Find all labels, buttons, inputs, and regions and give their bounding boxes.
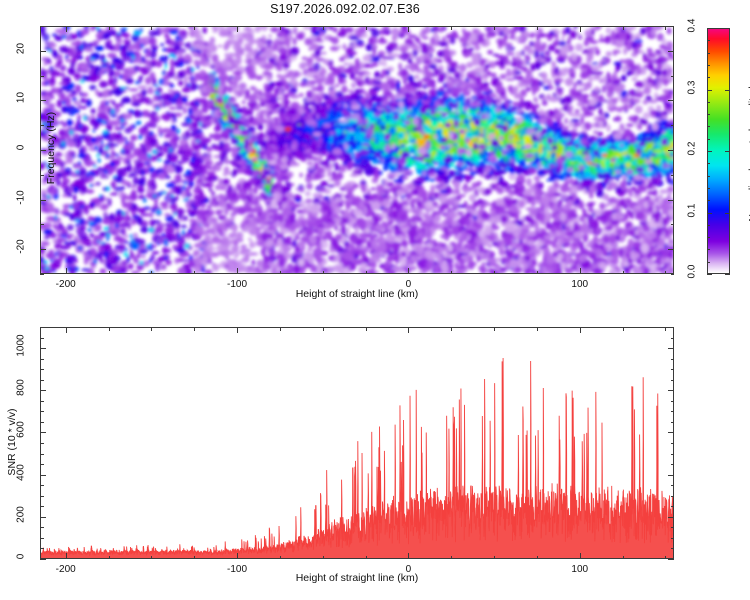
x-tick-top-125 bbox=[623, 26, 624, 30]
y-tick-right--25 bbox=[671, 274, 675, 275]
colorbar-minor-tick bbox=[707, 53, 710, 54]
colorbar-minor-tick bbox=[707, 262, 710, 263]
y-tick-1050 bbox=[40, 338, 44, 339]
x-tick--25 bbox=[366, 271, 367, 275]
y-tick-right-1000 bbox=[668, 348, 674, 349]
y-tick-right-800 bbox=[668, 390, 674, 391]
x-tick-top-0 bbox=[408, 26, 409, 32]
x-tick-top-50 bbox=[494, 26, 495, 30]
y-tick-right-550 bbox=[671, 443, 675, 444]
x-tick-top--200 bbox=[66, 26, 67, 32]
y-tick-250 bbox=[40, 506, 44, 507]
y-tick-right--15 bbox=[671, 224, 675, 225]
y-tick-600 bbox=[40, 432, 46, 433]
y-tick-750 bbox=[40, 401, 44, 402]
y-tick-550 bbox=[40, 443, 44, 444]
y-tick-right-1100 bbox=[671, 327, 675, 328]
y-tick--20 bbox=[40, 249, 46, 250]
y-tick-right-150 bbox=[671, 527, 675, 528]
y-tick-1100 bbox=[40, 327, 44, 328]
y-tick-right-950 bbox=[671, 359, 675, 360]
colorbar-minor-tick bbox=[707, 102, 710, 103]
x-tick-top-25 bbox=[451, 26, 452, 30]
y-tick-right-0 bbox=[668, 559, 674, 560]
colorbar-minor-tick bbox=[707, 163, 710, 164]
x-tick-top-100 bbox=[580, 26, 581, 32]
colorbar-minor-tick bbox=[707, 77, 710, 78]
x-tick-top-50 bbox=[494, 327, 495, 331]
spectrogram-y-axis-label: Frequency (Hz) bbox=[45, 48, 57, 248]
colorbar-minor-tick bbox=[707, 40, 710, 41]
y-tick-right-850 bbox=[671, 380, 675, 381]
colorbar-tick-label-3: 0.3 bbox=[687, 75, 698, 101]
x-tick-top--100 bbox=[237, 327, 238, 333]
spectrogram-plot-area bbox=[40, 26, 674, 274]
y-tick-right-25 bbox=[671, 26, 675, 27]
x-tick--50 bbox=[323, 271, 324, 275]
y-tick-right-300 bbox=[671, 496, 675, 497]
colorbar-tick-label-0: 0.0 bbox=[687, 259, 698, 285]
snr-plot-area bbox=[40, 327, 674, 559]
y-tick-850 bbox=[40, 380, 44, 381]
x-tick-top--175 bbox=[109, 327, 110, 331]
y-tick-right-1050 bbox=[671, 338, 675, 339]
y-tick-right-700 bbox=[671, 411, 675, 412]
colorbar-minor-tick bbox=[707, 188, 710, 189]
x-tick--125 bbox=[194, 556, 195, 560]
y-tick-500 bbox=[40, 454, 44, 455]
colorbar-minor-tick bbox=[707, 237, 710, 238]
y-tick-800 bbox=[40, 390, 46, 391]
x-tick-top--100 bbox=[237, 26, 238, 32]
x-tick-top--150 bbox=[151, 26, 152, 30]
x-tick--150 bbox=[151, 271, 152, 275]
y-tick-right-250 bbox=[671, 506, 675, 507]
y-tick-10 bbox=[40, 100, 46, 101]
x-tick-50 bbox=[494, 271, 495, 275]
x-tick-50 bbox=[494, 556, 495, 560]
x-tick-top--75 bbox=[280, 327, 281, 331]
y-tick-right-500 bbox=[671, 454, 675, 455]
colorbar-tick-2 bbox=[707, 151, 712, 152]
y-tick-label-200: 200 bbox=[16, 499, 27, 529]
x-tick--75 bbox=[280, 271, 281, 275]
x-tick-25 bbox=[451, 271, 452, 275]
y-tick-right-900 bbox=[671, 369, 675, 370]
x-tick--200 bbox=[66, 553, 67, 559]
colorbar-minor-tick bbox=[707, 200, 710, 201]
colorbar-minor-tick bbox=[707, 249, 710, 250]
x-tick-top-150 bbox=[665, 327, 666, 331]
colorbar-tick-right-3 bbox=[725, 90, 730, 91]
y-tick-label-600: 600 bbox=[16, 415, 27, 445]
y-tick-700 bbox=[40, 411, 44, 412]
y-tick-100 bbox=[40, 538, 44, 539]
y-tick-right-5 bbox=[671, 125, 675, 126]
y-tick-right-200 bbox=[668, 517, 674, 518]
x-tick--50 bbox=[323, 556, 324, 560]
colorbar-tick-label-1: 0.1 bbox=[687, 198, 698, 224]
y-tick-5 bbox=[40, 125, 44, 126]
figure-title: S197.2026.092.02.07.E36 bbox=[0, 2, 690, 16]
y-tick-right-750 bbox=[671, 401, 675, 402]
colorbar-tick-right-0 bbox=[725, 274, 730, 275]
x-tick-top-125 bbox=[623, 327, 624, 331]
x-tick-25 bbox=[451, 556, 452, 560]
y-tick-0 bbox=[40, 559, 46, 560]
x-tick--175 bbox=[109, 271, 110, 275]
y-tick-650 bbox=[40, 422, 44, 423]
y-tick-400 bbox=[40, 475, 46, 476]
snr-canvas bbox=[41, 328, 673, 558]
x-tick-top--50 bbox=[323, 26, 324, 30]
colorbar-tick-right-4 bbox=[725, 28, 730, 29]
x-tick-top-0 bbox=[408, 327, 409, 333]
colorbar-minor-tick bbox=[707, 114, 710, 115]
x-tick-top--200 bbox=[66, 327, 67, 333]
colorbar-tick-label-4: 0.4 bbox=[687, 13, 698, 39]
y-tick-right-0 bbox=[668, 150, 674, 151]
y-tick-right-350 bbox=[671, 485, 675, 486]
x-tick-top--50 bbox=[323, 327, 324, 331]
x-tick-top--150 bbox=[151, 327, 152, 331]
colorbar-tick-label-2: 0.2 bbox=[687, 136, 698, 162]
y-tick-label-400: 400 bbox=[16, 457, 27, 487]
x-tick--25 bbox=[366, 556, 367, 560]
x-tick-100 bbox=[580, 268, 581, 274]
x-tick-top-75 bbox=[537, 26, 538, 30]
y-tick-label-800: 800 bbox=[16, 373, 27, 403]
x-tick-top--25 bbox=[366, 327, 367, 331]
colorbar-tick-3 bbox=[707, 90, 712, 91]
x-tick-125 bbox=[623, 271, 624, 275]
y-tick-900 bbox=[40, 369, 44, 370]
y-tick-950 bbox=[40, 359, 44, 360]
x-tick-150 bbox=[665, 271, 666, 275]
spectrogram-canvas bbox=[41, 27, 673, 273]
y-tick-20 bbox=[40, 51, 46, 52]
x-tick-100 bbox=[580, 553, 581, 559]
y-tick-right-450 bbox=[671, 464, 675, 465]
x-tick-label--200: -200 bbox=[36, 564, 96, 575]
x-tick-125 bbox=[623, 556, 624, 560]
colorbar-tick-right-2 bbox=[725, 151, 730, 152]
y-tick-25 bbox=[40, 26, 44, 27]
x-tick--150 bbox=[151, 556, 152, 560]
y-tick-label-1000: 1000 bbox=[16, 331, 27, 361]
x-tick-label--100: -100 bbox=[207, 279, 267, 290]
y-tick-right-20 bbox=[668, 51, 674, 52]
y-tick-right--5 bbox=[671, 175, 675, 176]
x-tick-top--25 bbox=[366, 26, 367, 30]
colorbar-tick-right-1 bbox=[725, 213, 730, 214]
y-tick-50 bbox=[40, 548, 44, 549]
x-tick-top-100 bbox=[580, 327, 581, 333]
y-tick-450 bbox=[40, 464, 44, 465]
x-tick-label--200: -200 bbox=[36, 279, 96, 290]
x-tick-label-0: 0 bbox=[378, 279, 438, 290]
colorbar-tick-0 bbox=[707, 274, 712, 275]
y-tick-right-400 bbox=[668, 475, 674, 476]
y-tick-right-50 bbox=[671, 548, 675, 549]
x-tick--200 bbox=[66, 268, 67, 274]
colorbar-minor-tick bbox=[707, 225, 710, 226]
y-tick-label-10: 10 bbox=[16, 83, 27, 113]
x-tick-top-25 bbox=[451, 327, 452, 331]
colorbar-minor-tick bbox=[707, 139, 710, 140]
y-tick-right-600 bbox=[668, 432, 674, 433]
x-tick-label--100: -100 bbox=[207, 564, 267, 575]
colorbar-minor-tick bbox=[707, 126, 710, 127]
y-tick-right--20 bbox=[668, 249, 674, 250]
y-tick-right-100 bbox=[671, 538, 675, 539]
x-tick--100 bbox=[237, 553, 238, 559]
y-tick-15 bbox=[40, 76, 44, 77]
x-tick-top--75 bbox=[280, 26, 281, 30]
colorbar-minor-tick bbox=[707, 176, 710, 177]
x-tick-150 bbox=[665, 556, 666, 560]
x-tick-top--125 bbox=[194, 26, 195, 30]
x-tick-75 bbox=[537, 556, 538, 560]
x-tick--125 bbox=[194, 271, 195, 275]
x-tick-0 bbox=[408, 553, 409, 559]
y-tick-350 bbox=[40, 485, 44, 486]
y-tick-200 bbox=[40, 517, 46, 518]
y-tick-label--20: -20 bbox=[16, 232, 27, 262]
y-tick--5 bbox=[40, 175, 44, 176]
x-tick-top-75 bbox=[537, 327, 538, 331]
x-tick-label-100: 100 bbox=[550, 279, 610, 290]
y-tick-label-0: 0 bbox=[16, 542, 27, 572]
x-tick-top--175 bbox=[109, 26, 110, 30]
y-tick-150 bbox=[40, 527, 44, 528]
figure-root: S197.2026.092.02.07.E36 Frequency (Hz) H… bbox=[0, 0, 750, 600]
y-tick-right-15 bbox=[671, 76, 675, 77]
x-tick-75 bbox=[537, 271, 538, 275]
x-tick-top--125 bbox=[194, 327, 195, 331]
y-tick-label--10: -10 bbox=[16, 182, 27, 212]
x-tick-label-0: 0 bbox=[378, 564, 438, 575]
x-tick-top-150 bbox=[665, 26, 666, 30]
x-tick--75 bbox=[280, 556, 281, 560]
y-tick--10 bbox=[40, 200, 46, 201]
y-tick--25 bbox=[40, 274, 44, 275]
y-tick-300 bbox=[40, 496, 44, 497]
y-tick-right--10 bbox=[668, 200, 674, 201]
colorbar-minor-tick bbox=[707, 65, 710, 66]
y-tick-right-10 bbox=[668, 100, 674, 101]
x-tick-label-100: 100 bbox=[550, 564, 610, 575]
y-tick-0 bbox=[40, 150, 46, 151]
y-tick--15 bbox=[40, 224, 44, 225]
y-tick-1000 bbox=[40, 348, 46, 349]
x-tick--175 bbox=[109, 556, 110, 560]
colorbar-tick-1 bbox=[707, 213, 712, 214]
y-tick-label-0: 0 bbox=[16, 133, 27, 163]
colorbar-tick-4 bbox=[707, 28, 712, 29]
y-tick-right-650 bbox=[671, 422, 675, 423]
x-tick-0 bbox=[408, 268, 409, 274]
y-tick-label-20: 20 bbox=[16, 33, 27, 63]
x-tick--100 bbox=[237, 268, 238, 274]
